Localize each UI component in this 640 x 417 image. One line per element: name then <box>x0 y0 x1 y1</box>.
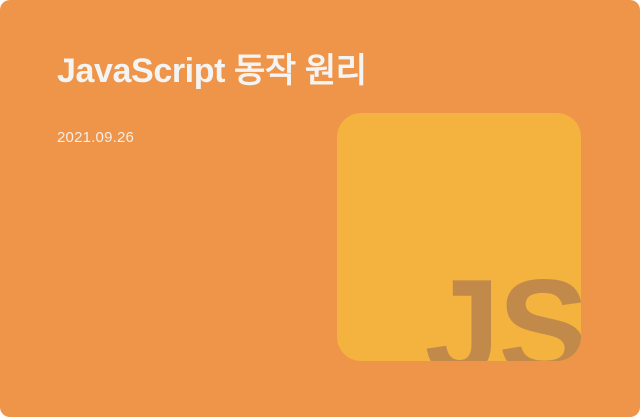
slide-card: JavaScript 동작 원리 2021.09.26 JS <box>0 0 640 417</box>
page-title: JavaScript 동작 원리 <box>57 52 367 91</box>
javascript-logo-icon: JS <box>337 113 581 361</box>
slide-date: 2021.09.26 <box>57 129 134 147</box>
javascript-logo-label: JS <box>425 259 581 361</box>
